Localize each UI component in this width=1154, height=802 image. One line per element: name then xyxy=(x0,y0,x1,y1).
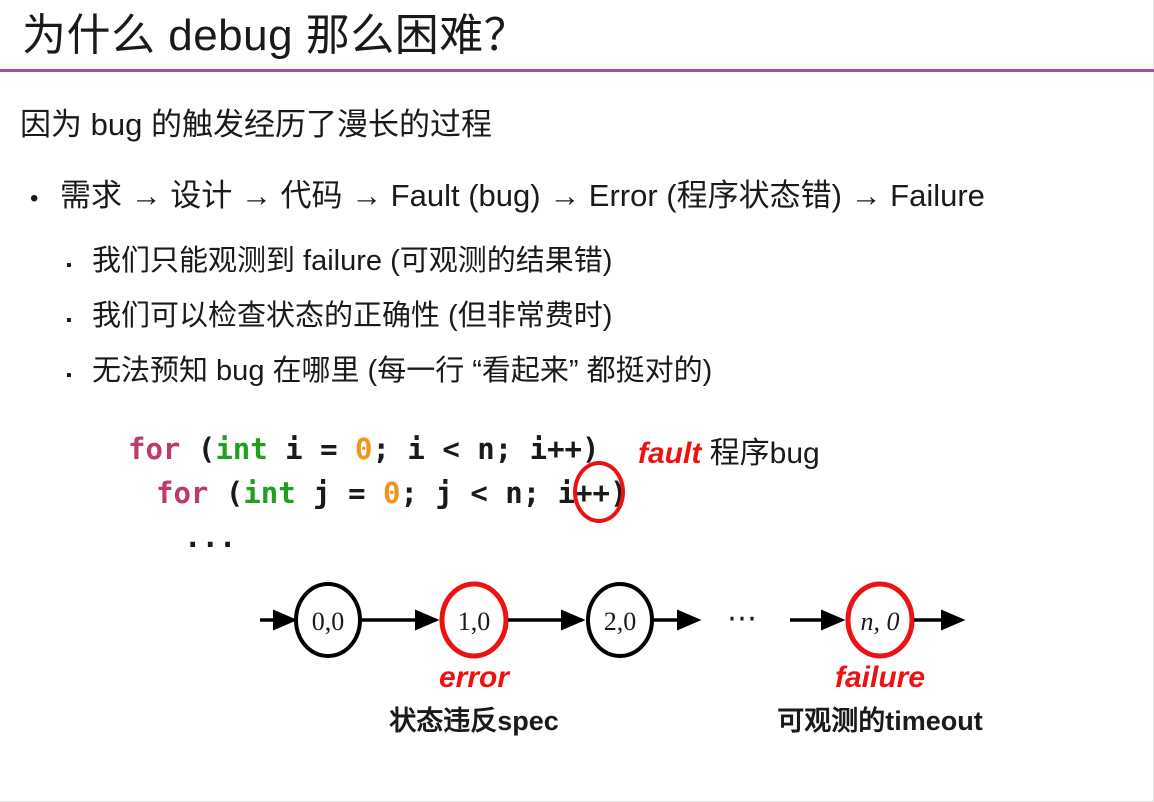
state-node-s0: 0,0 xyxy=(296,584,360,656)
code-punct: ( xyxy=(180,432,215,466)
code-number: 0 xyxy=(355,432,372,466)
state-node-sn: n, 0 xyxy=(848,584,912,656)
code-punct: ( xyxy=(208,476,243,510)
failure-annotation-note: 可观测的timeout xyxy=(777,705,983,736)
state-transition-diagram: 0,0 1,0 2,0 ⋯ n, 0 xyxy=(250,570,1010,760)
bullet-level2-1: ▪ 我们只能观测到 failure (可观测的结果错) xyxy=(66,237,612,279)
code-expr-tail: ; i < n; i++) xyxy=(372,432,599,466)
bullet-level2-3-text: 无法预知 bug 在哪里 (每一行 “看起来” 都挺对的) xyxy=(92,347,712,389)
code-number: 0 xyxy=(383,476,400,510)
code-snippet: for (int i = 0; i < n; i++)for (int j = … xyxy=(128,427,627,559)
bullet-square-icon: ▪ xyxy=(66,368,92,384)
code-type-int: int xyxy=(215,432,267,466)
bullet-square-icon: ▪ xyxy=(66,313,92,329)
bug-highlight-ellipse-icon xyxy=(573,461,625,523)
failure-annotation-label: failure xyxy=(835,661,925,694)
bullet-dot-icon: • xyxy=(30,187,60,211)
state-node-s0-label: 0,0 xyxy=(312,607,345,636)
state-node-sn-label: n, 0 xyxy=(861,607,900,636)
code-keyword-for: for xyxy=(156,476,208,510)
code-line-2: for (int j = 0; j < n; i++) xyxy=(128,471,627,515)
fault-annotation: fault 程序bug xyxy=(638,428,820,472)
lead-paragraph: 因为 bug 的触发经历了漫长的过程 xyxy=(20,99,492,144)
code-keyword-for: for xyxy=(128,432,180,466)
bullet-level2-2-text: 我们可以检查状态的正确性 (但非常费时) xyxy=(92,292,612,334)
code-line-1: for (int i = 0; i < n; i++) xyxy=(128,432,599,466)
state-node-s1: 1,0 xyxy=(442,584,506,656)
code-expr: i = xyxy=(268,432,355,466)
bullet-level2-1-text: 我们只能观测到 failure (可观测的结果错) xyxy=(92,237,612,279)
fault-label: fault xyxy=(638,437,701,470)
code-type-int: int xyxy=(243,476,295,510)
error-annotation-note: 状态违反spec xyxy=(389,706,559,736)
code-line-3-ellipsis: ... xyxy=(128,515,627,559)
bullet-level1: • 需求 → 设计 → 代码 → Fault (bug) → Error (程序… xyxy=(30,170,985,215)
state-node-s2: 2,0 xyxy=(588,584,652,656)
slide-canvas: { "slide": { "title": "为什么 debug 那么困难？",… xyxy=(0,0,1154,802)
error-annotation-label: error xyxy=(439,661,511,694)
fault-note: 程序bug xyxy=(710,437,820,470)
state-node-s2-label: 2,0 xyxy=(604,607,637,636)
page-title: 为什么 debug 那么困难？ xyxy=(22,8,528,63)
bullet-square-icon: ▪ xyxy=(66,258,92,274)
diagram-ellipsis: ⋯ xyxy=(727,602,757,635)
bullet-level2-2: ▪ 我们可以检查状态的正确性 (但非常费时) xyxy=(66,292,612,334)
state-node-s1-label: 1,0 xyxy=(458,607,491,636)
bullet-level2-3: ▪ 无法预知 bug 在哪里 (每一行 “看起来” 都挺对的) xyxy=(66,347,712,389)
title-divider xyxy=(0,69,1154,72)
bullet-level1-text: 需求 → 设计 → 代码 → Fault (bug) → Error (程序状态… xyxy=(60,170,985,215)
code-expr: j = xyxy=(296,476,383,510)
